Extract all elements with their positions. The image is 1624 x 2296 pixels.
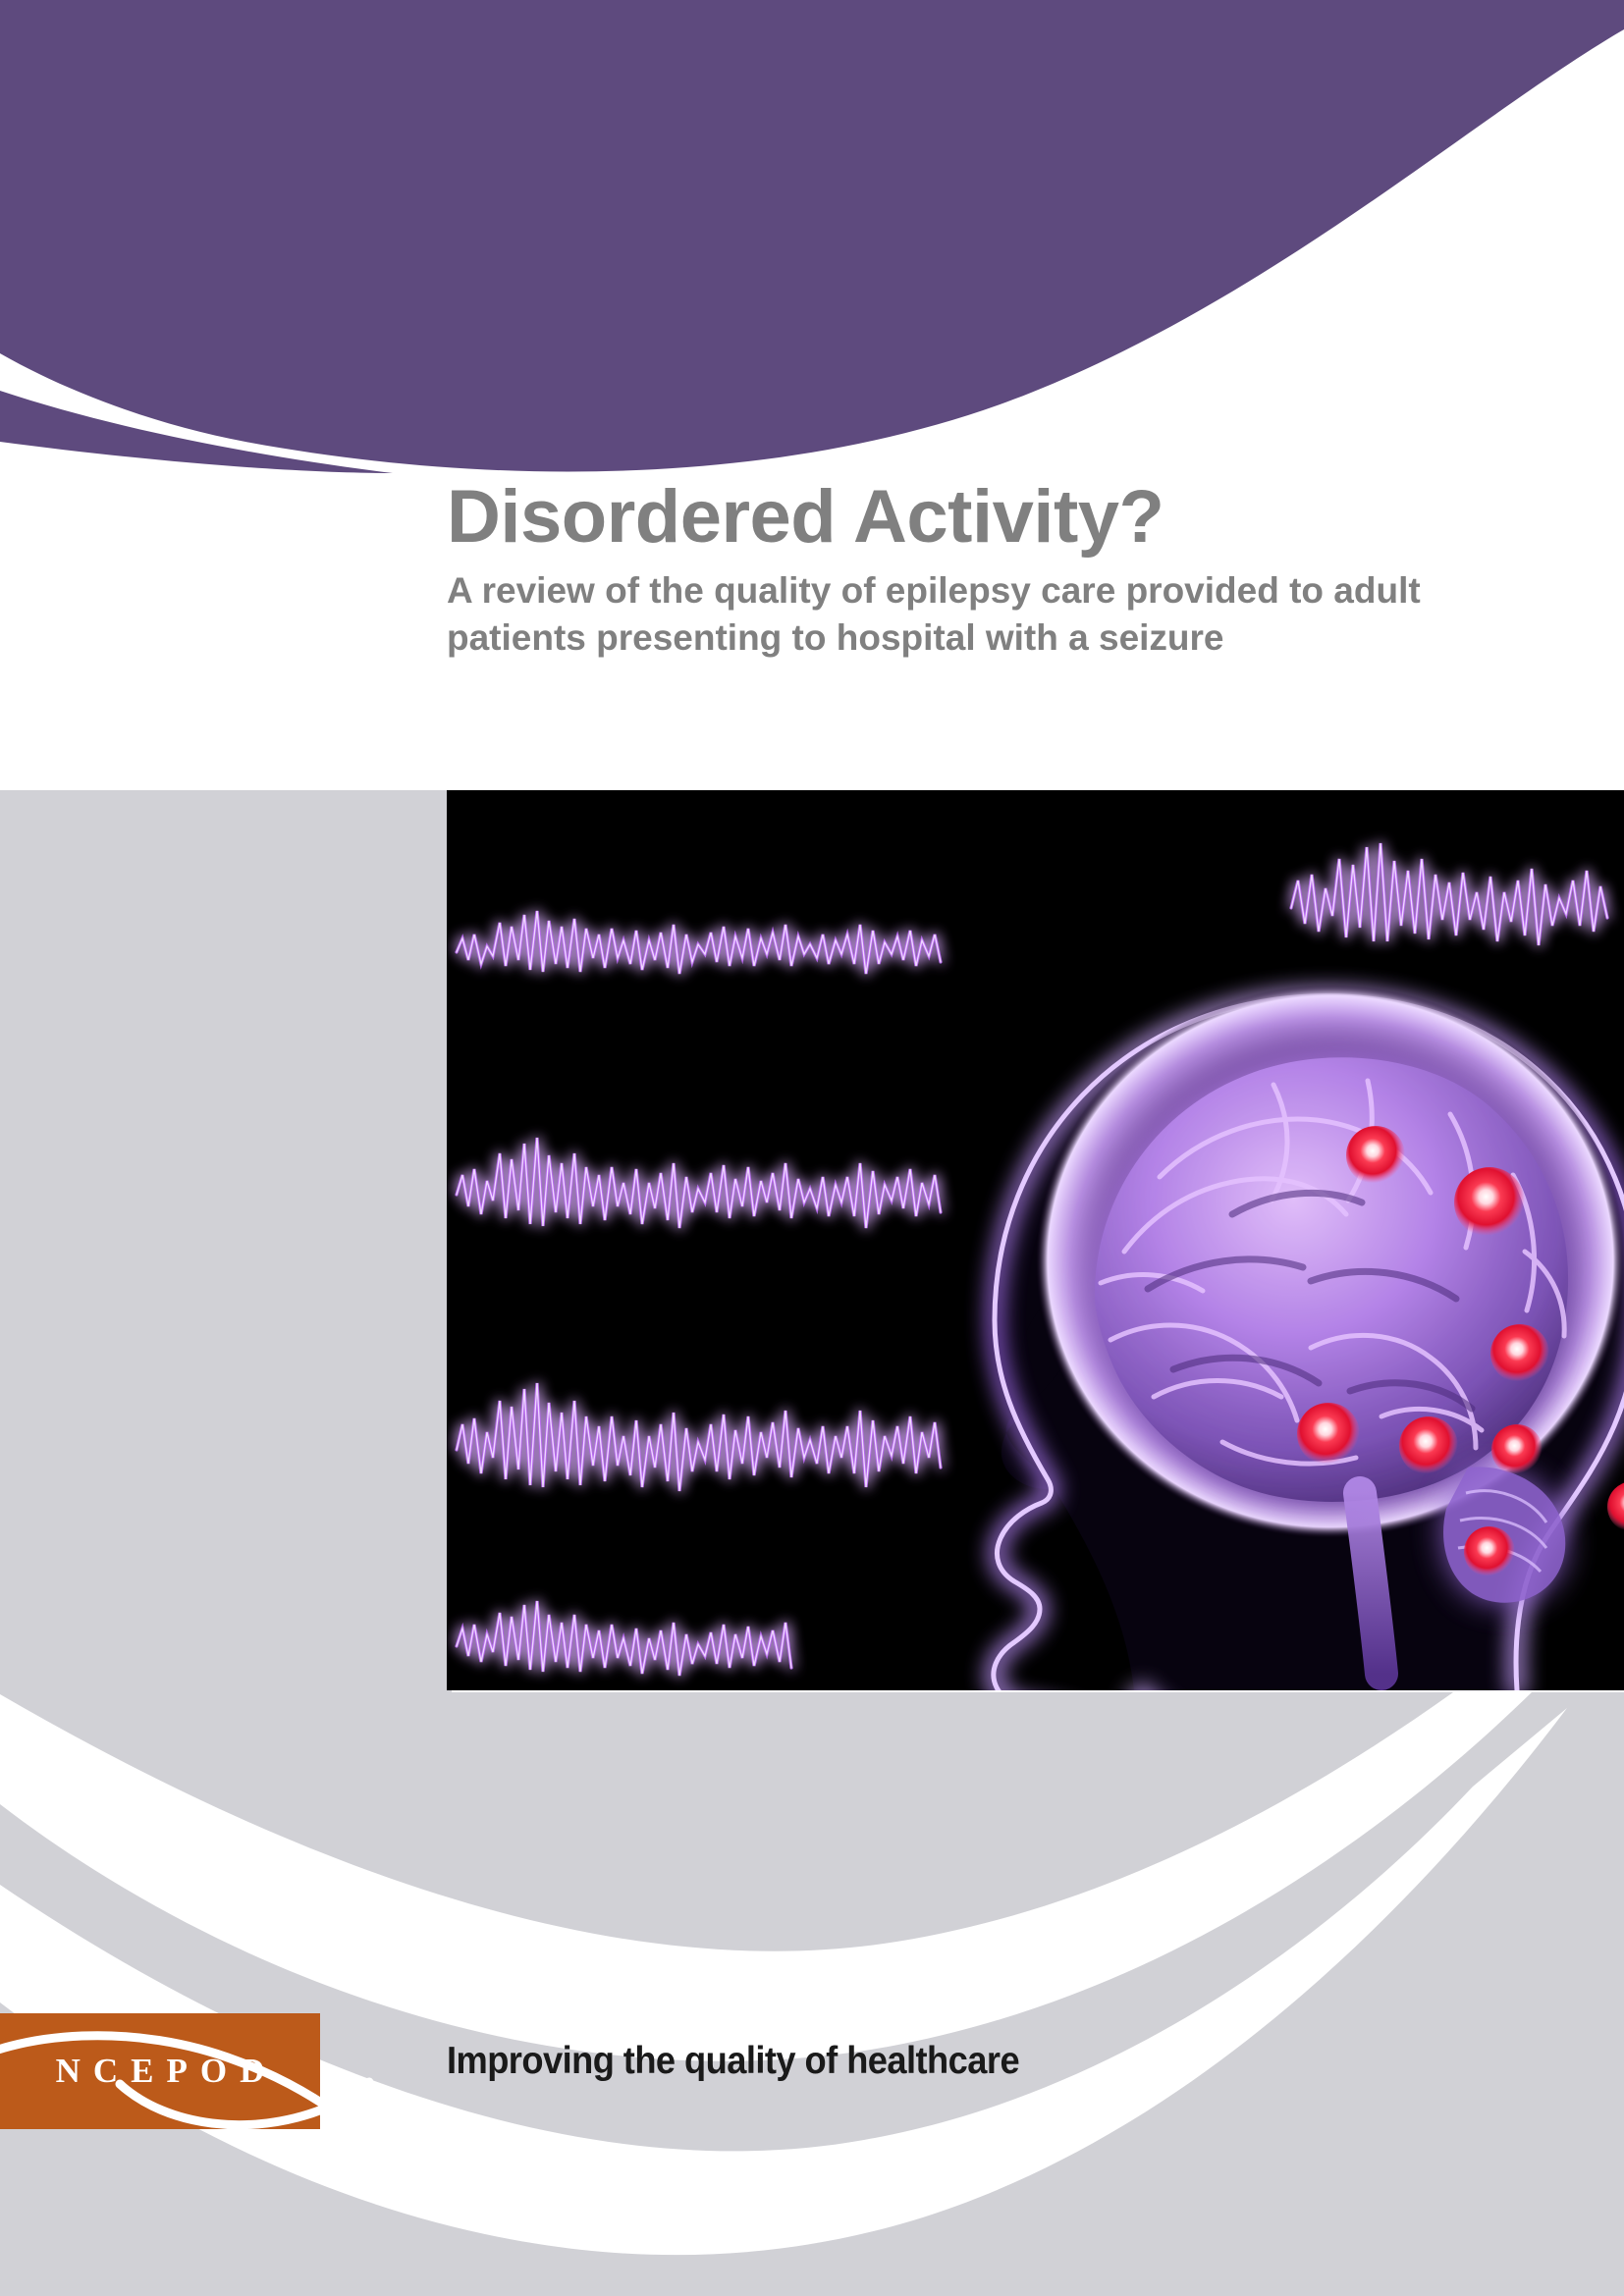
report-cover-page: Disordered Activity? A review of the qua…: [0, 0, 1624, 2296]
ncepod-logo: NCEPOD: [0, 2013, 320, 2129]
epilepsy-brain-eeg-illustration: [447, 790, 1624, 1690]
ncepod-logo-text: NCEPOD: [0, 2013, 320, 2129]
page-subtitle: A review of the quality of epilepsy care…: [447, 567, 1537, 664]
page-title: Disordered Activity?: [447, 479, 1546, 556]
title-block: Disordered Activity? A review of the qua…: [447, 479, 1546, 663]
grey-side-panel: [0, 790, 452, 1693]
hero-image: [447, 790, 1624, 1690]
brain-stem: [1360, 1493, 1381, 1674]
organisation-tagline: Improving the quality of healthcare: [447, 2040, 1019, 2083]
